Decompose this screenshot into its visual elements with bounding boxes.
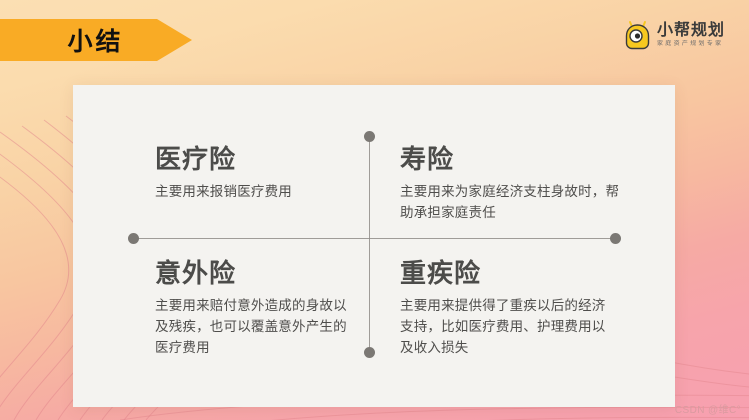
slide-root: 小结 小帮规划 家庭资产规划专家 医疗险 主要用来报销医疗费用	[0, 0, 749, 420]
mascot-icon	[624, 20, 651, 50]
quadrant-medical: 医疗险 主要用来报销医疗费用	[155, 144, 350, 202]
quadrant-description: 主要用来报销医疗费用	[155, 181, 350, 202]
content-card: 医疗险 主要用来报销医疗费用 寿险 主要用来为家庭经济支柱身故时，帮助承担家庭责…	[73, 85, 675, 407]
brand-tagline: 家庭资产规划专家	[657, 40, 725, 48]
horizontal-divider	[133, 238, 616, 239]
quadrant-life: 寿险 主要用来为家庭经济支柱身故时，帮助承担家庭责任	[400, 144, 620, 223]
brand-text: 小帮规划 家庭资产规划专家	[657, 22, 725, 48]
quadrant-description: 主要用来为家庭经济支柱身故时，帮助承担家庭责任	[400, 181, 620, 223]
divider-dot-bottom	[364, 347, 375, 358]
divider-dot-left	[128, 233, 139, 244]
brand-logo: 小帮规划 家庭资产规划专家	[624, 20, 725, 50]
brand-name: 小帮规划	[657, 22, 725, 39]
quadrant-title: 医疗险	[155, 144, 350, 175]
quadrant-critical-illness: 重疾险 主要用来提供得了重疾以后的经济支持，比如医疗费用、护理费用以及收入损失	[400, 258, 615, 358]
quadrant-title: 寿险	[400, 144, 620, 175]
quadrant-accident: 意外险 主要用来赔付意外造成的身故以及残疾，也可以覆盖意外产生的医疗费用	[155, 258, 355, 358]
divider-dot-right	[610, 233, 621, 244]
section-banner-title: 小结	[0, 19, 157, 61]
divider-dot-top	[364, 131, 375, 142]
watermark: CSDN @维C°	[675, 401, 741, 416]
quadrant-title: 重疾险	[400, 258, 615, 289]
vertical-divider	[369, 137, 370, 353]
quadrant-title: 意外险	[155, 258, 355, 289]
quadrant-description: 主要用来赔付意外造成的身故以及残疾，也可以覆盖意外产生的医疗费用	[155, 295, 355, 358]
quadrant-description: 主要用来提供得了重疾以后的经济支持，比如医疗费用、护理费用以及收入损失	[400, 295, 615, 358]
